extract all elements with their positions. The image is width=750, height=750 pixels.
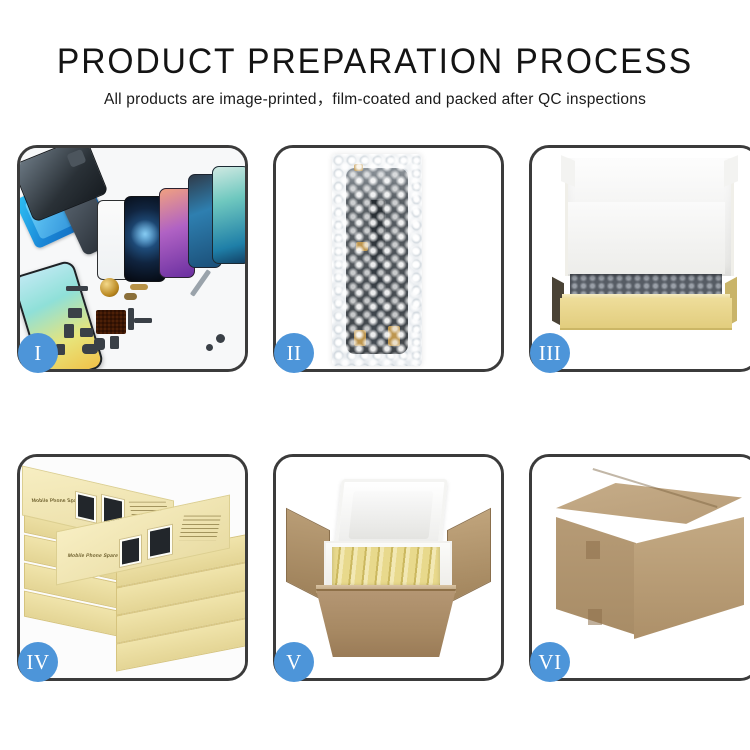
- small-part: [80, 328, 93, 337]
- phone-green-graphic: [212, 166, 245, 264]
- step-badge-5: V: [274, 642, 314, 682]
- step-panel-2: II: [273, 145, 504, 372]
- step-badge-4: IV: [18, 642, 58, 682]
- box-window-right: [147, 524, 173, 561]
- carton-front-panel: [316, 589, 456, 657]
- gold-tape-marker: [354, 330, 366, 346]
- chip-board-part: [96, 310, 126, 334]
- step-3-image: [532, 148, 750, 369]
- bubble-wrap-bag: [332, 154, 422, 366]
- header: PRODUCT PREPARATION PROCESS All products…: [0, 0, 750, 110]
- step-badge-6: VI: [530, 642, 570, 682]
- box-window-left: [75, 491, 97, 524]
- small-part: [66, 286, 88, 291]
- carton-tape-lower: [588, 609, 602, 625]
- carton-right-face: [634, 517, 744, 639]
- page-subtitle: All products are image-printed，film-coat…: [0, 90, 750, 110]
- product-preparation-infographic: PRODUCT PREPARATION PROCESS All products…: [0, 0, 750, 750]
- gold-tape-marker: [356, 242, 368, 251]
- speaker-coil-part: [100, 278, 119, 297]
- white-foam-sheet: [568, 202, 725, 274]
- step-5-image: [276, 457, 501, 678]
- step-panel-6: VI: [529, 454, 750, 681]
- box-print-textlines: [179, 516, 221, 541]
- yellow-box-front: [560, 298, 732, 330]
- step-4-image: Mobile Phone Spare Parts Mobile Phone Sp…: [20, 457, 245, 678]
- small-part: [68, 308, 82, 318]
- step-6-image: [532, 457, 750, 678]
- small-part: [134, 318, 152, 323]
- flex-cable-part: [130, 284, 148, 290]
- small-part: [64, 324, 74, 338]
- page-title: PRODUCT PREPARATION PROCESS: [15, 42, 735, 82]
- step-1-image: [20, 148, 245, 369]
- step-badge-3: III: [530, 333, 570, 373]
- small-part: [82, 344, 98, 354]
- box-window-left: [119, 534, 142, 568]
- step-panel-4: Mobile Phone Spare Parts Mobile Phone Sp…: [17, 454, 248, 681]
- yellow-boxes-inside: [332, 547, 440, 589]
- gold-tape-marker: [354, 164, 363, 171]
- connector-part: [124, 293, 137, 300]
- step-panel-5: V: [273, 454, 504, 681]
- carton-tape-upper: [586, 541, 600, 559]
- small-part: [110, 336, 119, 349]
- gold-tape-marker: [388, 326, 400, 346]
- part-flex-strip: [370, 200, 385, 346]
- screw-part: [216, 334, 225, 343]
- screw-part: [206, 344, 213, 351]
- step-2-image: [276, 148, 501, 369]
- step-panel-3: III: [529, 145, 750, 372]
- step-badge-1: I: [18, 333, 58, 373]
- step-badge-2: II: [274, 333, 314, 373]
- step-panel-1: I: [17, 145, 248, 372]
- process-steps-grid: I II: [17, 145, 733, 681]
